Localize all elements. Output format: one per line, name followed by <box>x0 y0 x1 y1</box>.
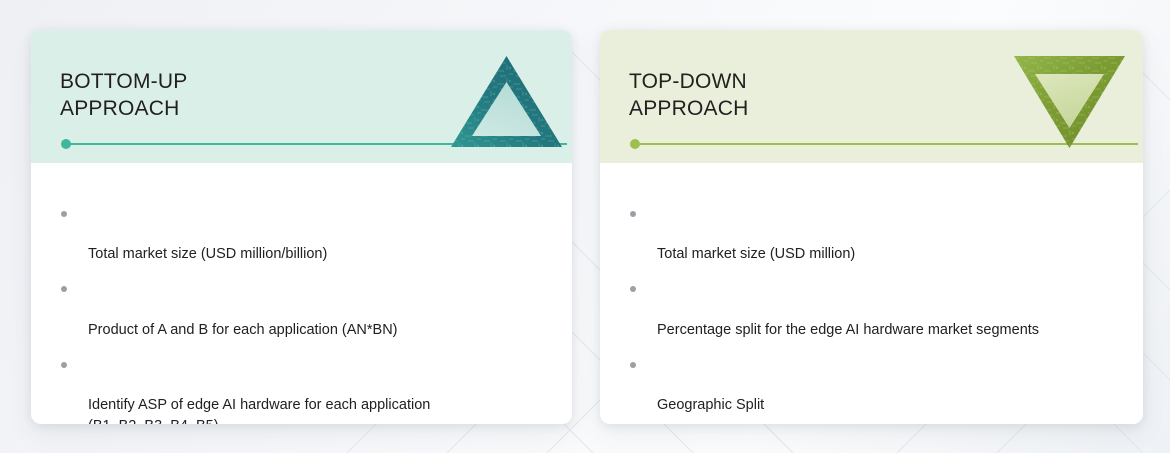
list-item-text: Percentage split for the edge AI hardwar… <box>657 322 1039 338</box>
top-down-bullet-list: Total market size (USD million) Percenta… <box>626 203 1125 424</box>
bullet-dot-icon <box>61 362 67 368</box>
list-item: Geographic Split <box>626 354 1125 416</box>
bottom-up-approach-card: BOTTOM-UP APPROACH <box>31 30 572 424</box>
bullet-dot-icon <box>630 211 636 217</box>
list-item: Identify ASP of edge AI hardware for eac… <box>57 354 554 424</box>
list-item: Product of A and B for each application … <box>57 279 554 341</box>
top-down-card-header: TOP-DOWN APPROACH <box>600 30 1143 163</box>
bullet-dot-icon <box>61 211 67 217</box>
bullet-dot-icon <box>630 286 636 292</box>
triangle-up-icon <box>449 52 564 150</box>
cards-container: BOTTOM-UP APPROACH <box>0 0 1170 453</box>
bottom-up-card-header: BOTTOM-UP APPROACH <box>31 30 572 163</box>
list-item-text: Geographic Split <box>657 397 764 413</box>
top-down-title: TOP-DOWN APPROACH <box>629 68 748 122</box>
bottom-up-title: BOTTOM-UP APPROACH <box>60 68 187 122</box>
list-item-text: Total market size (USD million/billion) <box>88 246 327 262</box>
list-item: Total market size (USD million/billion) <box>57 203 554 265</box>
bottom-up-card-body: Total market size (USD million/billion) … <box>31 163 572 424</box>
top-down-approach-card: TOP-DOWN APPROACH <box>600 30 1143 424</box>
list-item-text: Total market size (USD million) <box>657 246 855 262</box>
bullet-dot-icon <box>630 362 636 368</box>
list-item: Percentage split for the edge AI hardwar… <box>626 279 1125 341</box>
bullet-dot-icon <box>61 286 67 292</box>
list-item: Total market size (USD million) <box>626 203 1125 265</box>
triangle-down-icon <box>1012 52 1127 150</box>
list-item-text: Identify ASP of edge AI hardware for eac… <box>88 397 430 424</box>
bottom-up-bullet-list: Total market size (USD million/billion) … <box>57 203 554 424</box>
top-down-card-body: Total market size (USD million) Percenta… <box>600 163 1143 424</box>
list-item-text: Product of A and B for each application … <box>88 322 398 338</box>
